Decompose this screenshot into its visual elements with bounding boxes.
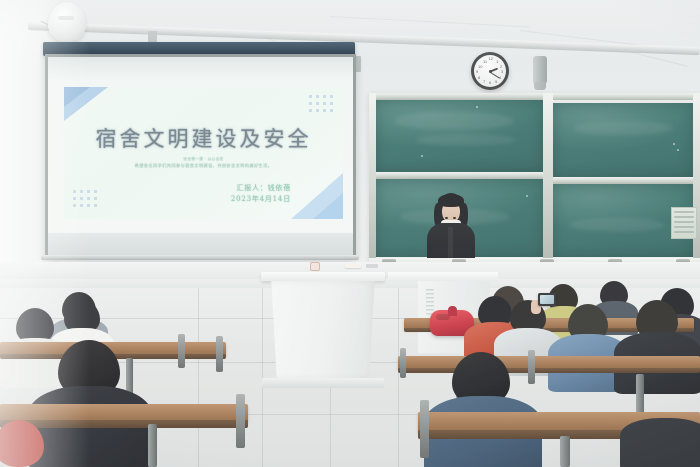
phone-camera <box>538 293 556 306</box>
clock-numeral: 1 <box>496 60 498 64</box>
bench-rail <box>528 350 535 384</box>
notice-line <box>674 211 694 213</box>
slide-dot-grid-bottom-left <box>73 190 97 207</box>
classroom-photo: 12 3 6 9 1 2 4 5 7 8 10 11 <box>0 0 700 467</box>
lectern-base <box>262 378 384 388</box>
bench-desk-edge <box>398 368 700 373</box>
bench-rail <box>178 334 185 368</box>
clock-numeral: 6 <box>489 81 491 85</box>
lectern-body <box>268 281 378 379</box>
blackboard-frame-mid-vertical <box>543 93 553 265</box>
projector-screen-bottom-band <box>48 233 353 255</box>
slide-subtitle-line-2: 希望各位同学们共同参与宿舍文明建设，共创安全文明的美好生活。 <box>64 163 343 169</box>
chalk-smudge <box>569 218 665 232</box>
blackboard-frame-mid-horizontal-right <box>553 177 693 184</box>
clock-face: 12 3 6 9 1 2 4 5 7 8 10 11 <box>474 55 506 87</box>
chalk-dot <box>526 195 528 197</box>
clock-numeral: 7 <box>483 80 485 84</box>
slide-accent-triangle-top-left-dark <box>64 87 90 107</box>
ceiling-speaker-icon <box>48 2 86 42</box>
slide-presenter-label: 汇报人：钱依蓓 <box>236 183 291 193</box>
slide-accent-triangle-bottom-right-dark <box>313 193 343 219</box>
blackboard-frame-left <box>369 93 376 265</box>
wall-clock: 12 3 6 9 1 2 4 5 7 8 10 11 <box>471 52 509 90</box>
notice-line <box>674 221 694 223</box>
blackboard-frame-top <box>369 93 700 100</box>
slide-subtitle-line-1: 安全第一课 · 从心出发 <box>64 157 343 162</box>
slide-dot-grid-top-right <box>309 95 333 112</box>
presenter-bangs <box>438 194 464 207</box>
lectern-papers <box>345 263 361 268</box>
blackboard-frame-mid-horizontal-left <box>376 172 543 179</box>
presenter-eye <box>453 217 456 219</box>
backpack-strap <box>448 306 457 316</box>
lectern <box>264 272 382 388</box>
slide-date-label: 2023年4月14日 <box>231 194 291 204</box>
bench-leg <box>148 424 157 467</box>
blackboard-panel <box>376 100 543 172</box>
blackboard-panel <box>553 103 693 177</box>
blackboard-frame-right <box>693 93 700 265</box>
clock-numeral: 3 <box>501 70 503 74</box>
clock-numeral: 2 <box>500 65 502 69</box>
bench-rail <box>400 348 406 378</box>
chalk-smudge <box>573 121 673 135</box>
blackboard <box>369 93 700 265</box>
slide-title: 宿舍文明建设及安全 <box>64 123 343 153</box>
projector-screen: 宿舍文明建设及安全 安全第一课 · 从心出发 希望各位同学们共同参与宿舍文明建设… <box>45 54 356 258</box>
floor-tile-line <box>198 288 199 467</box>
clock-numeral: 10 <box>478 65 482 69</box>
clock-center-pin <box>489 70 492 73</box>
clock-numeral: 11 <box>483 60 487 64</box>
bench-desk-edge <box>0 420 248 428</box>
floor-tile-line <box>398 288 399 467</box>
lectern-cup <box>310 262 320 271</box>
student-torso <box>620 418 700 467</box>
clock-numeral: 9 <box>476 70 478 74</box>
lectern-remote <box>366 264 378 268</box>
projector-screen-weight-rod <box>41 255 359 260</box>
chalk-dot <box>677 149 679 151</box>
notice-line <box>674 226 694 228</box>
chalk-smudge <box>394 112 514 130</box>
phone-screen <box>540 295 554 304</box>
clock-numeral: 5 <box>495 80 497 84</box>
chalk-smudge <box>416 134 516 146</box>
notice-line <box>674 216 694 218</box>
presenter-eye <box>445 217 448 219</box>
bench-rail <box>236 394 245 448</box>
bench-rail <box>216 336 223 372</box>
bench-rail <box>420 400 429 458</box>
wall-sensor-icon <box>533 56 547 84</box>
lectern-top <box>261 272 385 281</box>
chalk-dot <box>421 155 423 157</box>
chalk-dot <box>476 106 478 108</box>
chalk-dot <box>673 143 675 145</box>
bench-leg <box>560 436 570 467</box>
notice-line <box>674 231 694 233</box>
clock-numeral: 12 <box>489 57 493 61</box>
presentation-slide: 宿舍文明建设及安全 安全第一课 · 从心出发 希望各位同学们共同参与宿舍文明建设… <box>64 87 343 219</box>
blackboard-notice-card <box>671 207 697 239</box>
clock-numeral: 8 <box>478 76 480 80</box>
